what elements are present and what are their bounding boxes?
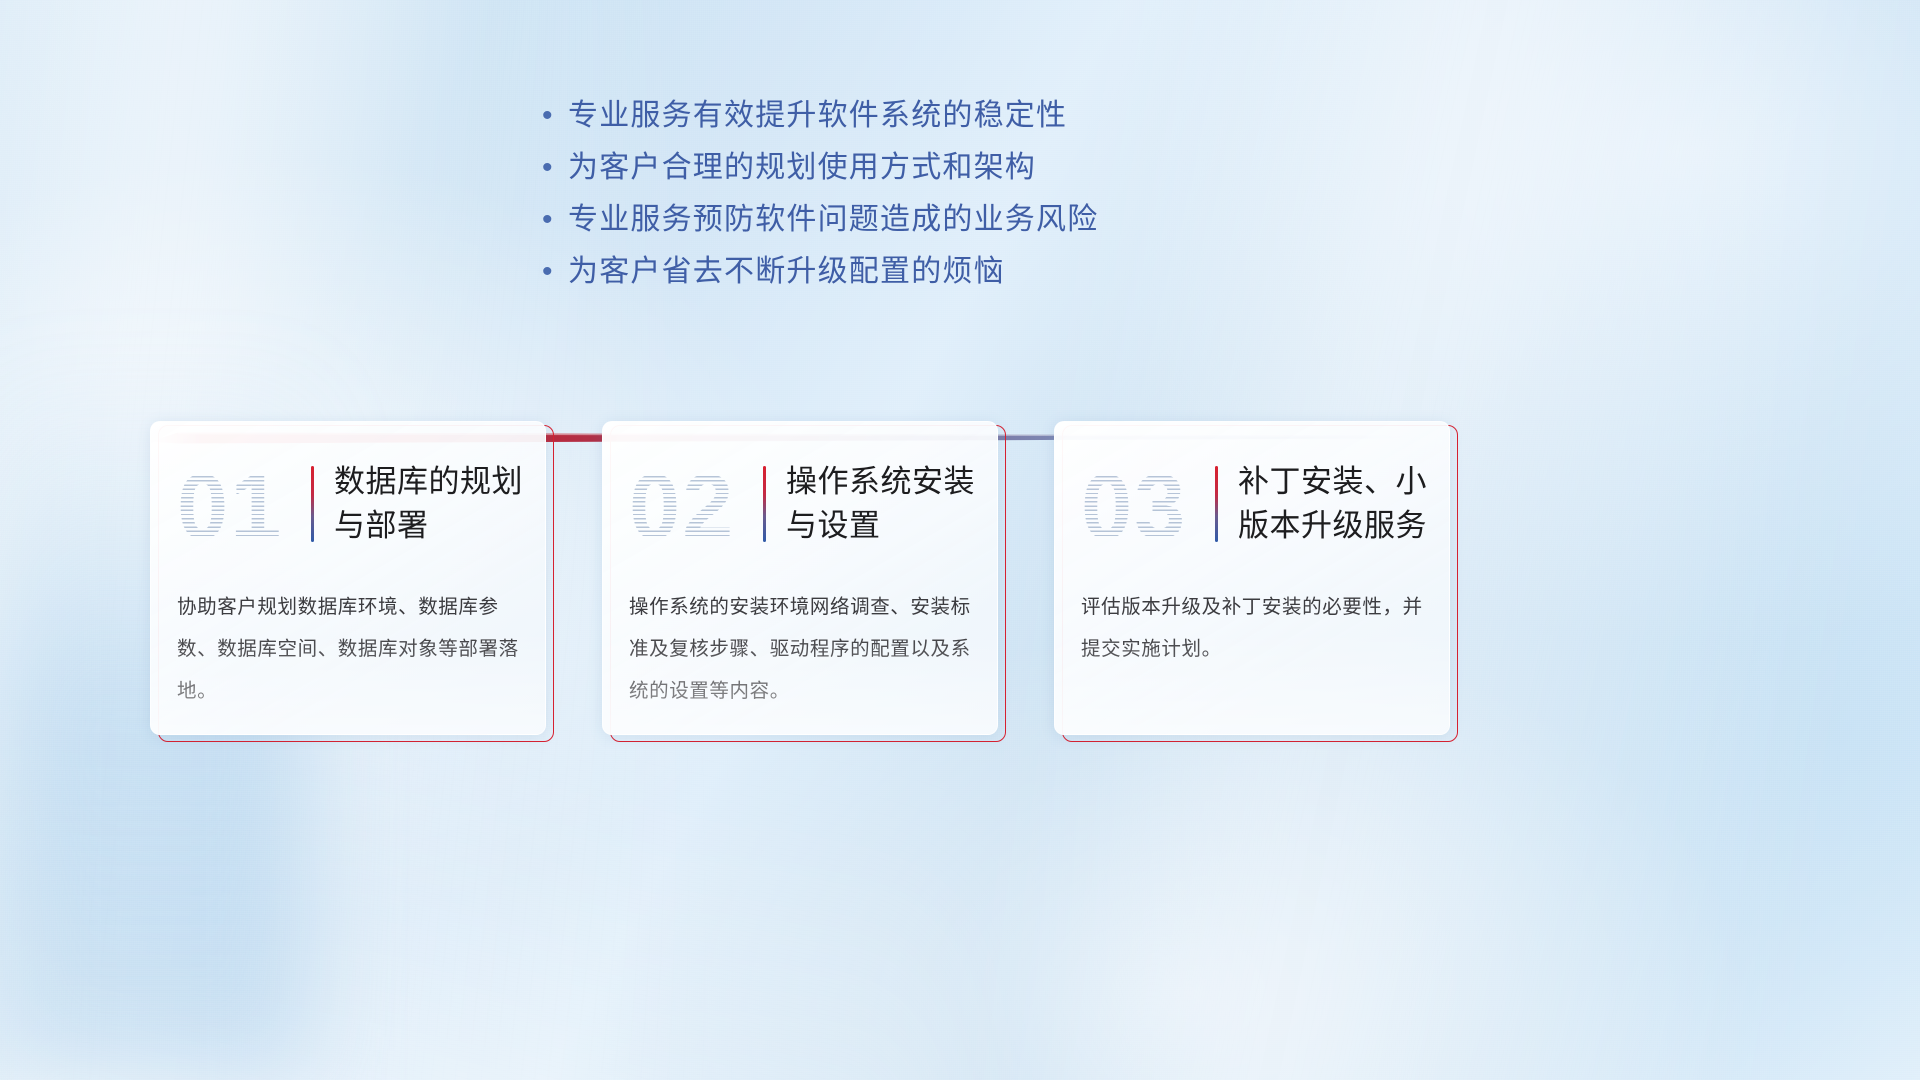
card-surface[interactable]: 02 操作系统安装与设置 操作系统的安装环境网络调查、安装标准及复核步骤、驱动程…	[602, 421, 998, 735]
card-number: 03	[1081, 455, 1213, 553]
bullet-item: • 为客户合理的规划使用方式和架构	[534, 145, 1294, 197]
card-divider-rule	[311, 466, 314, 542]
bullet-marker-icon: •	[534, 249, 568, 295]
bullet-item-label: 专业服务有效提升软件系统的稳定性	[568, 93, 1067, 139]
bullet-item-label: 专业服务预防软件问题造成的业务风险	[568, 197, 1098, 243]
service-card-list: 01 数据库的规划与部署 协助客户规划数据库环境、数据库参数、数据库空间、数据库…	[150, 421, 1460, 742]
service-card[interactable]: 03 补丁安装、小版本升级服务 评估版本升级及补丁安装的必要性，并提交实施计划。	[1054, 421, 1458, 742]
card-divider-rule	[1215, 466, 1218, 542]
card-number: 01	[177, 455, 309, 553]
card-header: 02 操作系统安装与设置	[603, 422, 997, 586]
bullet-item: • 为客户省去不断升级配置的烦恼	[534, 249, 1294, 301]
card-title: 操作系统安装与设置	[786, 460, 997, 548]
bullet-item-label: 为客户合理的规划使用方式和架构	[568, 145, 1036, 191]
bullet-marker-icon: •	[534, 93, 568, 139]
bullet-marker-icon: •	[534, 197, 568, 243]
card-description: 操作系统的安装环境网络调查、安装标准及复核步骤、驱动程序的配置以及系统的设置等内…	[603, 586, 997, 712]
card-description: 评估版本升级及补丁安装的必要性，并提交实施计划。	[1055, 586, 1449, 670]
card-header: 01 数据库的规划与部署	[151, 422, 545, 586]
bullet-marker-icon: •	[534, 145, 568, 191]
service-card[interactable]: 01 数据库的规划与部署 协助客户规划数据库环境、数据库参数、数据库空间、数据库…	[150, 421, 554, 742]
card-surface[interactable]: 03 补丁安装、小版本升级服务 评估版本升级及补丁安装的必要性，并提交实施计划。	[1054, 421, 1450, 735]
bullet-item-label: 为客户省去不断升级配置的烦恼	[568, 249, 1005, 295]
bullet-item: • 专业服务预防软件问题造成的业务风险	[534, 197, 1294, 249]
card-title: 数据库的规划与部署	[334, 460, 545, 548]
card-number: 02	[629, 455, 761, 553]
benefits-bullet-list: • 专业服务有效提升软件系统的稳定性 • 为客户合理的规划使用方式和架构 • 专…	[534, 93, 1294, 301]
card-description: 协助客户规划数据库环境、数据库参数、数据库空间、数据库对象等部署落地。	[151, 586, 545, 712]
card-divider-rule	[763, 466, 766, 542]
card-header: 03 补丁安装、小版本升级服务	[1055, 422, 1449, 586]
bullet-item: • 专业服务有效提升软件系统的稳定性	[534, 93, 1294, 145]
card-surface[interactable]: 01 数据库的规划与部署 协助客户规划数据库环境、数据库参数、数据库空间、数据库…	[150, 421, 546, 735]
card-title: 补丁安装、小版本升级服务	[1238, 460, 1449, 548]
service-card[interactable]: 02 操作系统安装与设置 操作系统的安装环境网络调查、安装标准及复核步骤、驱动程…	[602, 421, 1006, 742]
